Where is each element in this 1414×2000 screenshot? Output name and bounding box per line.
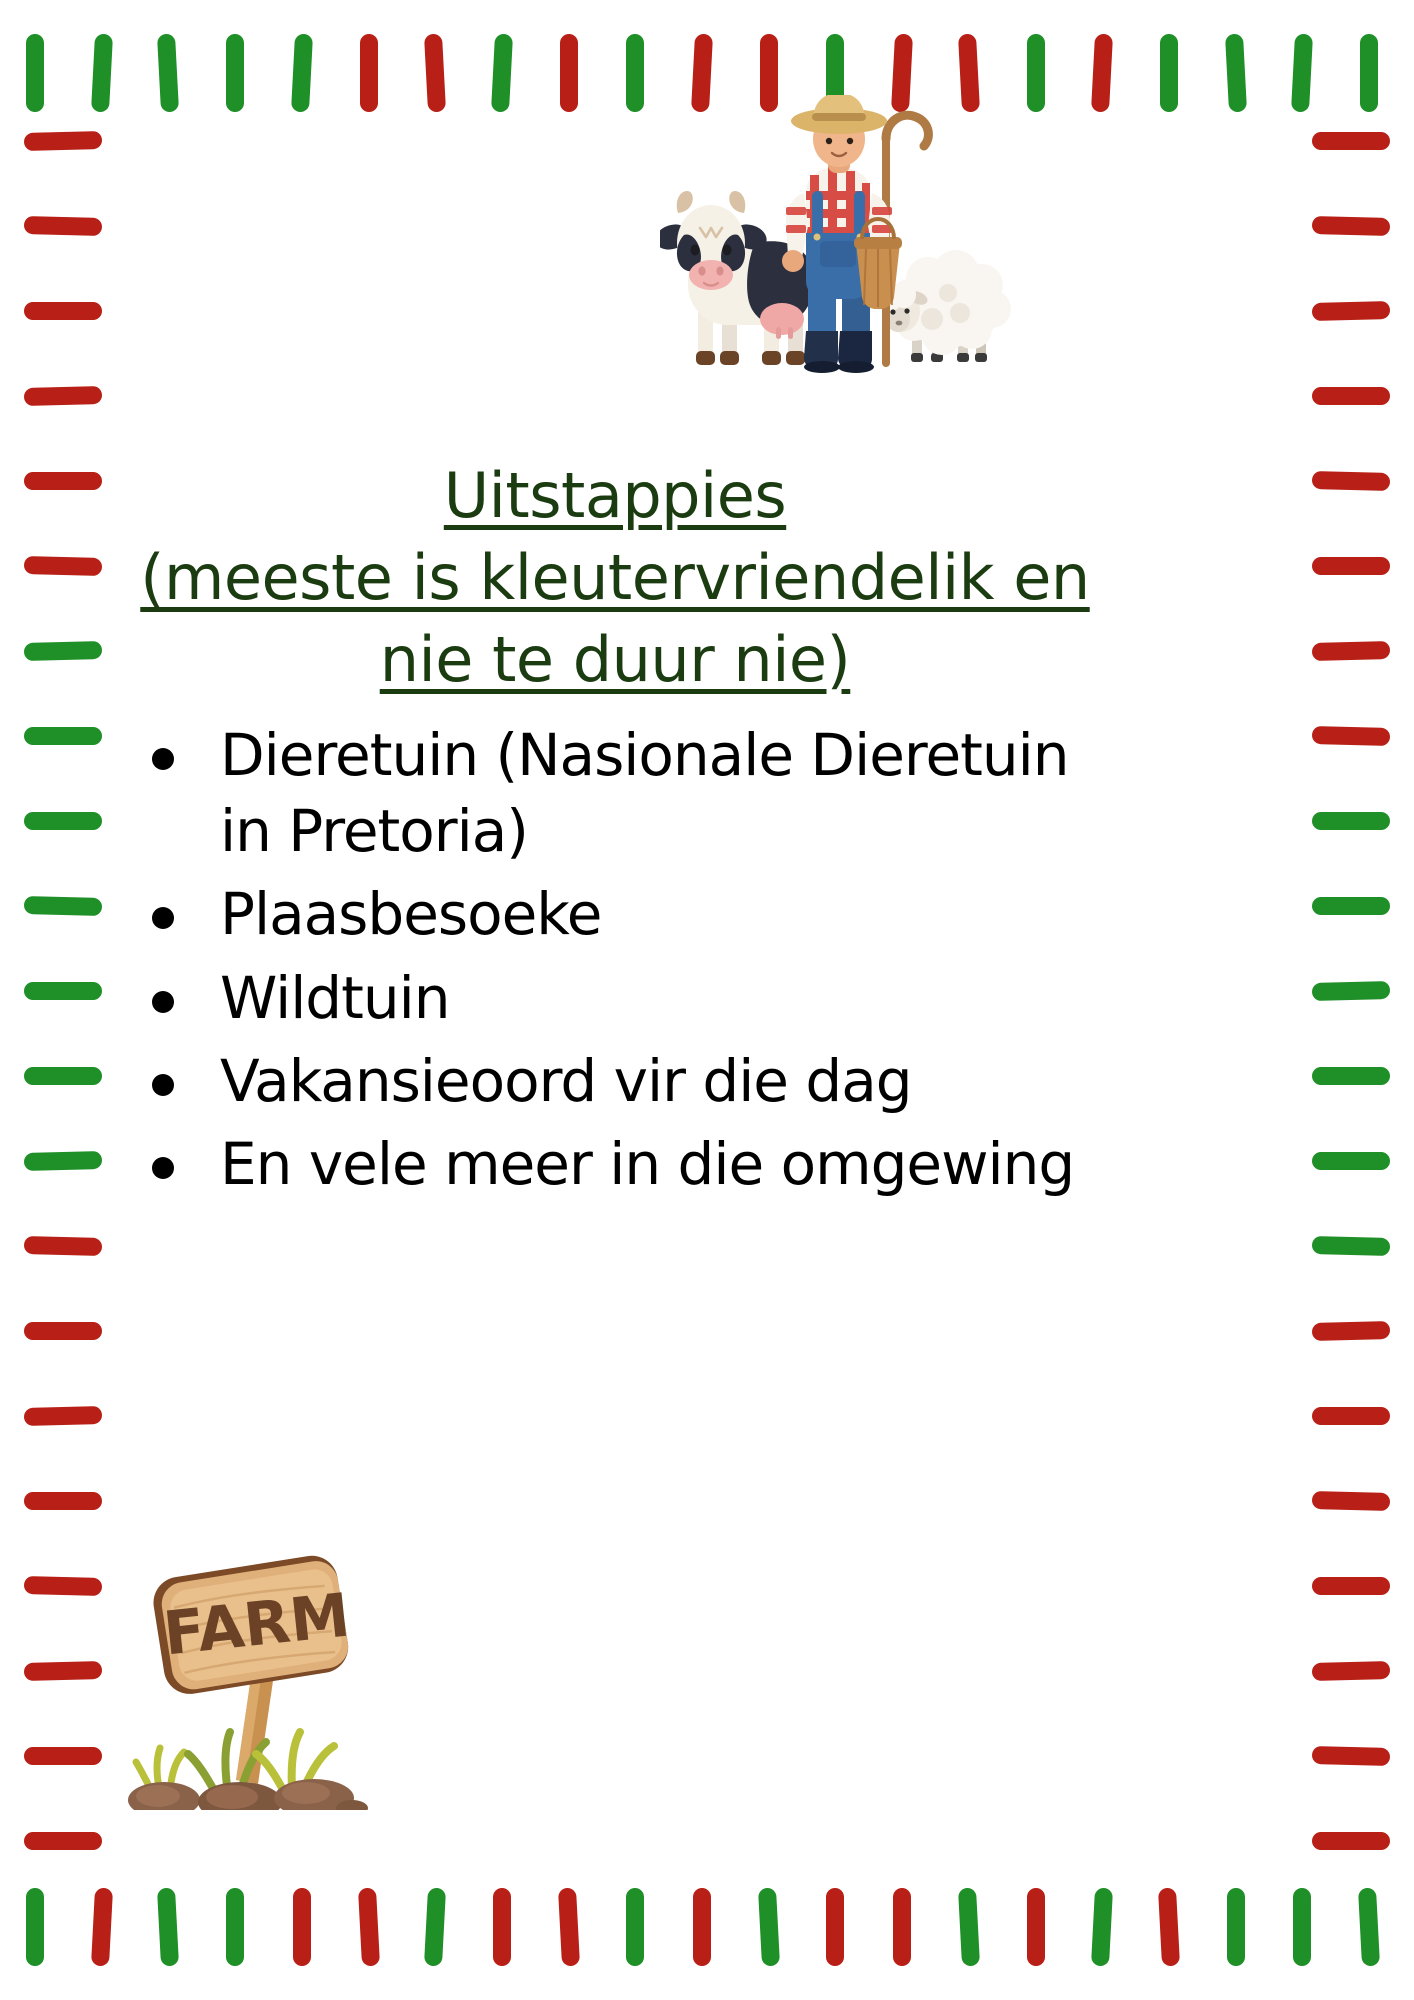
border-dash-bottom bbox=[424, 1888, 446, 1967]
border-dash-bottom bbox=[1293, 1888, 1311, 1966]
border-dash-right bbox=[1312, 1236, 1390, 1256]
border-dash-bottom bbox=[893, 1888, 911, 1966]
list-item-label: En vele meer in die omgewing bbox=[220, 1130, 1074, 1198]
list-item-label: Wildtuin bbox=[220, 964, 450, 1032]
border-dash-top bbox=[157, 34, 179, 113]
list-item-label: Dieretuin (Nasionale Dieretuin in Pretor… bbox=[220, 721, 1069, 864]
page-title-line-3: nie te duur nie) bbox=[110, 619, 1120, 701]
border-dash-left bbox=[24, 727, 102, 745]
list-item: Dieretuin (Nasionale Dieretuin in Pretor… bbox=[110, 718, 1120, 869]
list-item: Wildtuin bbox=[110, 961, 1120, 1036]
border-dash-bottom bbox=[1227, 1888, 1245, 1966]
worksheet-content: Uitstappies (meeste is kleutervriendelik… bbox=[110, 455, 1120, 1211]
wooden-farm-signpost-illustration: FARM bbox=[100, 1530, 380, 1810]
border-dash-bottom bbox=[1091, 1888, 1113, 1967]
border-dash-top bbox=[626, 34, 644, 112]
border-dash-left bbox=[24, 216, 102, 236]
border-dash-left bbox=[24, 641, 102, 661]
border-dash-left bbox=[24, 812, 102, 830]
border-dash-bottom bbox=[1158, 1888, 1180, 1967]
border-dash-left bbox=[24, 556, 102, 576]
border-dash-bottom bbox=[758, 1888, 780, 1967]
border-dash-left bbox=[24, 1151, 102, 1171]
border-dash-left bbox=[24, 896, 102, 916]
border-dash-top bbox=[1027, 34, 1045, 112]
border-dash-right bbox=[1312, 132, 1390, 150]
border-dash-left bbox=[24, 1236, 102, 1256]
border-dash-top bbox=[560, 34, 578, 112]
border-dash-bottom bbox=[293, 1888, 311, 1966]
border-dash-right bbox=[1312, 471, 1390, 491]
border-dash-top bbox=[26, 34, 44, 112]
border-dash-bottom bbox=[91, 1888, 113, 1967]
border-dash-right bbox=[1312, 1067, 1390, 1085]
border-dash-top bbox=[1091, 34, 1113, 113]
border-dash-right bbox=[1312, 812, 1390, 830]
border-dash-left bbox=[24, 1832, 102, 1850]
border-dash-right bbox=[1312, 387, 1390, 405]
border-dash-top bbox=[1360, 34, 1378, 112]
soil-mounds bbox=[128, 1779, 368, 1810]
border-dash-bottom bbox=[1358, 1888, 1380, 1967]
border-dash-right bbox=[1312, 1491, 1390, 1511]
border-dash-top bbox=[360, 34, 378, 112]
list-item-label: Plaasbesoeke bbox=[220, 880, 601, 948]
list-item: En vele meer in die omgewing bbox=[110, 1127, 1120, 1202]
border-dash-top bbox=[1225, 34, 1247, 113]
border-dash-bottom bbox=[626, 1888, 644, 1966]
border-dash-right bbox=[1312, 1407, 1390, 1425]
bullet-icon bbox=[152, 1074, 174, 1096]
border-dash-bottom bbox=[226, 1888, 244, 1966]
border-dash-right bbox=[1312, 981, 1390, 1001]
border-dash-right bbox=[1312, 1577, 1390, 1595]
border-dash-bottom bbox=[493, 1888, 511, 1966]
bullet-icon bbox=[152, 1157, 174, 1179]
border-dash-top bbox=[1291, 34, 1313, 113]
border-dash-right bbox=[1312, 301, 1390, 321]
border-dash-left bbox=[24, 982, 102, 1000]
border-dash-bottom bbox=[1027, 1888, 1045, 1966]
border-dash-top bbox=[91, 34, 113, 113]
border-dash-left bbox=[24, 302, 102, 320]
border-dash-right bbox=[1312, 216, 1390, 236]
border-dash-left bbox=[24, 1322, 102, 1340]
border-dash-left bbox=[24, 1406, 102, 1426]
border-dash-bottom bbox=[26, 1888, 44, 1966]
border-dash-right bbox=[1312, 1152, 1390, 1170]
list-item-label: Vakansieoord vir die dag bbox=[220, 1047, 912, 1115]
border-dash-bottom bbox=[826, 1888, 844, 1966]
sign-board: FARM bbox=[150, 1551, 360, 1698]
list-item: Plaasbesoeke bbox=[110, 877, 1120, 952]
border-dash-left bbox=[24, 131, 102, 151]
border-dash-bottom bbox=[958, 1888, 980, 1967]
border-dash-left bbox=[24, 472, 102, 490]
page-title-line-2: (meeste is kleutervriendelik en bbox=[110, 537, 1120, 619]
border-dash-right bbox=[1312, 557, 1390, 575]
bullet-icon bbox=[152, 907, 174, 929]
outing-list: Dieretuin (Nasionale Dieretuin in Pretor… bbox=[110, 718, 1120, 1202]
list-item: Vakansieoord vir die dag bbox=[110, 1044, 1120, 1119]
page-title-line-1: Uitstappies bbox=[110, 455, 1120, 537]
border-dash-top bbox=[226, 34, 244, 112]
border-dash-bottom bbox=[558, 1888, 580, 1967]
border-dash-left bbox=[24, 1067, 102, 1085]
bullet-icon bbox=[152, 991, 174, 1013]
border-dash-right bbox=[1312, 1746, 1390, 1766]
border-dash-left bbox=[24, 1492, 102, 1510]
bullet-icon bbox=[152, 748, 174, 770]
straw-hat-icon bbox=[791, 95, 887, 134]
border-dash-top bbox=[424, 34, 446, 113]
border-dash-right bbox=[1312, 1832, 1390, 1850]
border-dash-left bbox=[24, 1661, 102, 1681]
border-dash-top bbox=[491, 34, 513, 113]
border-dash-right bbox=[1312, 897, 1390, 915]
border-dash-bottom bbox=[357, 1888, 379, 1967]
border-dash-top bbox=[291, 34, 313, 113]
border-dash-left bbox=[24, 1747, 102, 1765]
page-title: Uitstappies (meeste is kleutervriendelik… bbox=[110, 455, 1120, 700]
border-dash-right bbox=[1312, 1321, 1390, 1341]
border-dash-right bbox=[1312, 1661, 1390, 1681]
border-dash-top bbox=[1160, 34, 1178, 112]
border-dash-bottom bbox=[693, 1888, 711, 1966]
worksheet-page: FARM bbox=[0, 0, 1414, 2000]
border-dash-left bbox=[24, 1576, 102, 1596]
border-dash-right bbox=[1312, 726, 1390, 746]
farmer-with-cow-and-sheep-illustration bbox=[660, 95, 1020, 385]
border-dash-right bbox=[1312, 641, 1390, 661]
border-dash-bottom bbox=[157, 1888, 179, 1967]
border-dash-left bbox=[24, 386, 102, 406]
